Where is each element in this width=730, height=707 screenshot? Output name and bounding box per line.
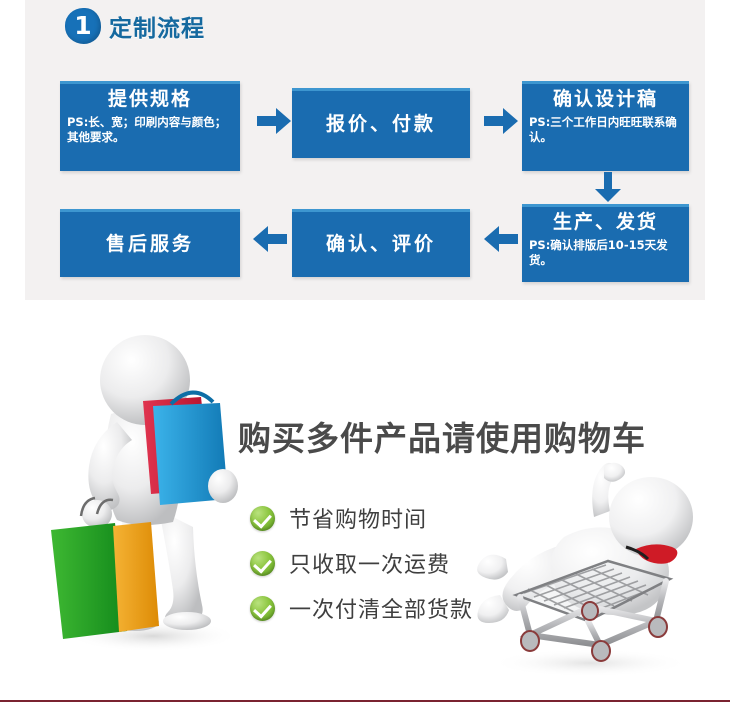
flow-box-title: 提供规格: [67, 88, 233, 112]
shopping-cart-promo-section: 购买多件产品请使用购物车 节省购物时间 只收取一次运费 一次付清全部货款: [0, 300, 730, 682]
check-circle-icon: [250, 551, 275, 576]
check-circle-icon: [250, 596, 275, 621]
benefit-item: 一次付清全部货款: [250, 592, 473, 624]
step-number-label: 1: [65, 8, 101, 44]
custom-flow-panel: 1 定制流程 提供规格 PS:长、宽；印刷内容与颜色；其他要求。 报价、付款 确…: [25, 0, 705, 300]
promo-title: 购买多件产品请使用购物车: [238, 412, 646, 460]
arrow-left-icon: [484, 226, 518, 252]
flow-box-confirm-review: 确认、评价: [292, 209, 470, 277]
flow-box-note: PS:长、宽；印刷内容与颜色；其他要求。: [67, 115, 233, 145]
benefit-label: 一次付清全部货款: [289, 592, 473, 624]
flow-box-note: PS:三个工作日内旺旺联系确认。: [529, 115, 682, 145]
flow-box-note: PS:确认排版后10-15天发货。: [529, 238, 682, 268]
benefit-item: 只收取一次运费: [250, 547, 473, 579]
flow-box-title: 确认、评价: [326, 233, 436, 257]
flow-box-produce-ship: 生产、发货 PS:确认排版后10-15天发货。: [522, 204, 689, 282]
arrow-down-icon: [595, 172, 621, 202]
flow-section-heading: 1 定制流程: [65, 8, 205, 44]
arrow-right-icon: [257, 108, 291, 134]
bottom-spacer: [0, 682, 730, 700]
bottom-divider-rule: [0, 700, 730, 702]
benefit-label: 节省购物时间: [289, 502, 427, 534]
flow-box-title: 售后服务: [106, 233, 194, 257]
flow-box-after-sales: 售后服务: [60, 209, 240, 277]
flow-box-provide-spec: 提供规格 PS:长、宽；印刷内容与颜色；其他要求。: [60, 81, 240, 171]
benefit-label: 只收取一次运费: [289, 547, 450, 579]
benefit-item: 节省购物时间: [250, 502, 473, 534]
flow-section-title: 定制流程: [109, 9, 205, 43]
flow-box-confirm-design: 确认设计稿 PS:三个工作日内旺旺联系确认。: [522, 81, 689, 171]
flow-box-title: 生产、发货: [529, 211, 682, 235]
flow-box-title: 确认设计稿: [529, 88, 682, 112]
benefits-list: 节省购物时间 只收取一次运费 一次付清全部货款: [250, 502, 473, 624]
flow-box-title: 报价、付款: [326, 113, 436, 137]
cart-figure-illustration: [468, 455, 713, 680]
check-circle-icon: [250, 506, 275, 531]
step-number-badge: 1: [65, 8, 101, 44]
arrow-right-icon: [484, 108, 518, 134]
arrow-left-icon: [253, 226, 287, 252]
shopper-illustration: [35, 318, 260, 658]
flow-box-quote-payment: 报价、付款: [292, 88, 470, 158]
